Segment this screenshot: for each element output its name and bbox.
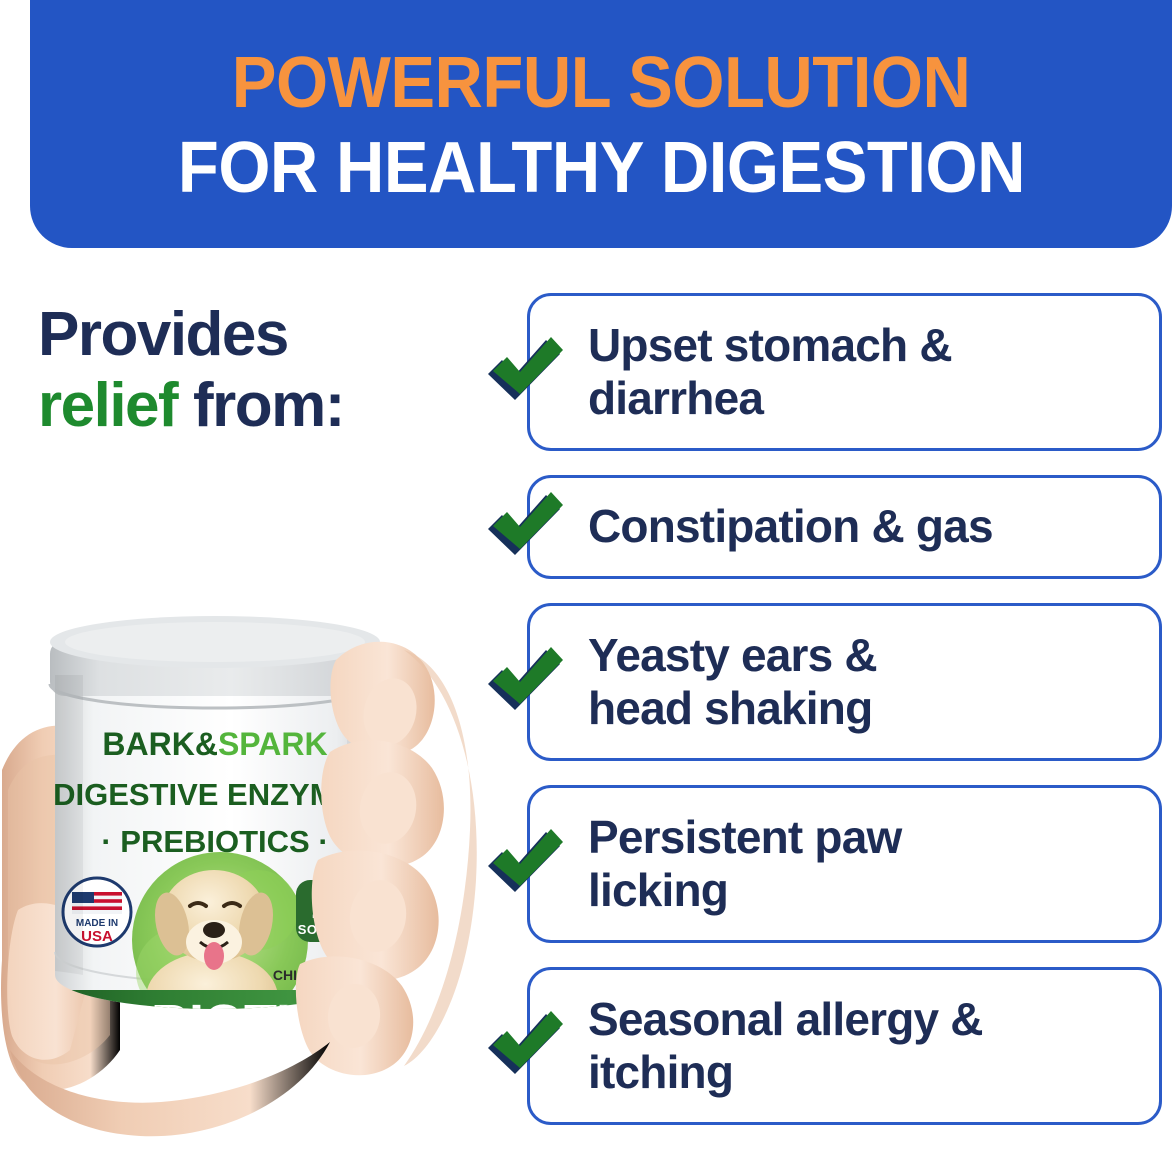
benefit-line-2: diarrhea [588,372,763,424]
checkmark-icon [482,640,566,724]
benefit-line-1: Persistent paw [588,811,901,863]
benefit-card[interactable]: Yeasty ears & head shaking [527,603,1162,761]
brand-spark: SPARK [218,726,328,762]
dog-photo [132,852,308,1044]
benefit-line-1: Seasonal allergy & [588,993,983,1045]
benefit-card[interactable]: Constipation & gas [527,475,1162,579]
checkmark-icon [482,330,566,414]
benefit-text: Constipation & gas [588,500,993,553]
banner-headline-primary: POWERFUL SOLUTION [232,48,971,119]
benefit-line-2: head shaking [588,682,872,734]
benefit-line-1: Yeasty ears & [588,629,877,681]
benefit-card[interactable]: Persistent paw licking [527,785,1162,943]
lead-heading: Provides relief from: [38,300,478,441]
checkmark-icon [482,822,566,906]
lead-word-provides: Provides [38,300,288,369]
product-image: BARK&SPARK · DIGESTIVE ENZYMES · · PREBI… [0,580,480,1170]
product-illustration: BARK&SPARK · DIGESTIVE ENZYMES · · PREBI… [0,580,480,1170]
usa-text: USA [81,928,113,945]
lead-word-from: from: [193,371,344,440]
checkmark-icon [482,485,566,569]
benefit-line-1: Constipation & gas [588,500,993,552]
header-banner: POWERFUL SOLUTION FOR HEALTHY DIGESTION [30,0,1172,248]
benefit-text: Persistent paw licking [588,811,901,918]
benefit-line-1: Upset stomach & [588,319,952,371]
brand-name: BARK&SPARK [102,726,327,762]
brand-bark: BARK& [102,726,218,762]
benefit-line-2: itching [588,1046,733,1098]
benefit-text: Yeasty ears & head shaking [588,629,877,736]
benefit-card[interactable]: Seasonal allergy & itching [527,967,1162,1125]
benefit-line-2: licking [588,864,728,916]
benefit-card[interactable]: Upset stomach & diarrhea [527,293,1162,451]
benefit-card-list: Upset stomach & diarrhea Constipation & … [527,293,1162,1149]
checkmark-icon [482,1004,566,1088]
lead-word-relief: relief [38,371,177,440]
banner-headline-secondary: FOR HEALTHY DIGESTION [177,133,1024,204]
benefit-text: Upset stomach & diarrhea [588,319,952,426]
benefit-text: Seasonal allergy & itching [588,993,983,1100]
